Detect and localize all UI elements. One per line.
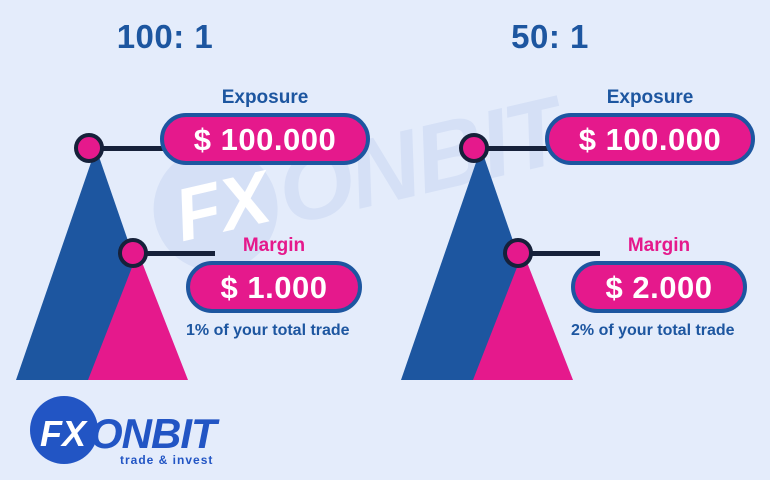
brand-logo[interactable]: FX ONBIT trade & invest bbox=[28, 396, 278, 468]
margin-block: Margin $ 2.000 2% of your total trade bbox=[571, 236, 747, 339]
margin-percent-note: 2% of your total trade bbox=[571, 323, 747, 339]
exposure-label: Exposure bbox=[160, 88, 370, 107]
margin-block: Margin $ 1.000 1% of your total trade bbox=[186, 236, 362, 339]
margin-label: Margin bbox=[186, 236, 362, 255]
logo-onbit-text: ONBIT bbox=[90, 410, 220, 457]
exposure-connector-dot bbox=[459, 133, 489, 163]
exposure-value-pill[interactable]: $ 100.000 bbox=[160, 113, 370, 165]
exposure-block: Exposure $ 100.000 bbox=[545, 88, 755, 165]
exposure-block: Exposure $ 100.000 bbox=[160, 88, 370, 165]
exposure-label: Exposure bbox=[545, 88, 755, 107]
margin-percent-note: 1% of your total trade bbox=[186, 323, 362, 339]
logo-tagline: trade & invest bbox=[120, 453, 213, 467]
infographic-canvas: FX ONBIT 100: 1 Exposure $ 100.000 bbox=[0, 0, 770, 480]
margin-label: Margin bbox=[571, 236, 747, 255]
logo-fx-text: FX bbox=[40, 413, 88, 454]
panel-ratio-title: 50: 1 bbox=[385, 18, 715, 56]
margin-connector-dot bbox=[118, 238, 148, 268]
margin-connector-dot bbox=[503, 238, 533, 268]
exposure-value-pill[interactable]: $ 100.000 bbox=[545, 113, 755, 165]
panel-ratio-title: 100: 1 bbox=[0, 18, 330, 56]
leverage-panel-50-1: 50: 1 Exposure $ 100.000 Margin $ 2.000 … bbox=[385, 0, 770, 480]
margin-value-pill[interactable]: $ 1.000 bbox=[186, 261, 362, 313]
exposure-connector-dot bbox=[74, 133, 104, 163]
margin-value-pill[interactable]: $ 2.000 bbox=[571, 261, 747, 313]
